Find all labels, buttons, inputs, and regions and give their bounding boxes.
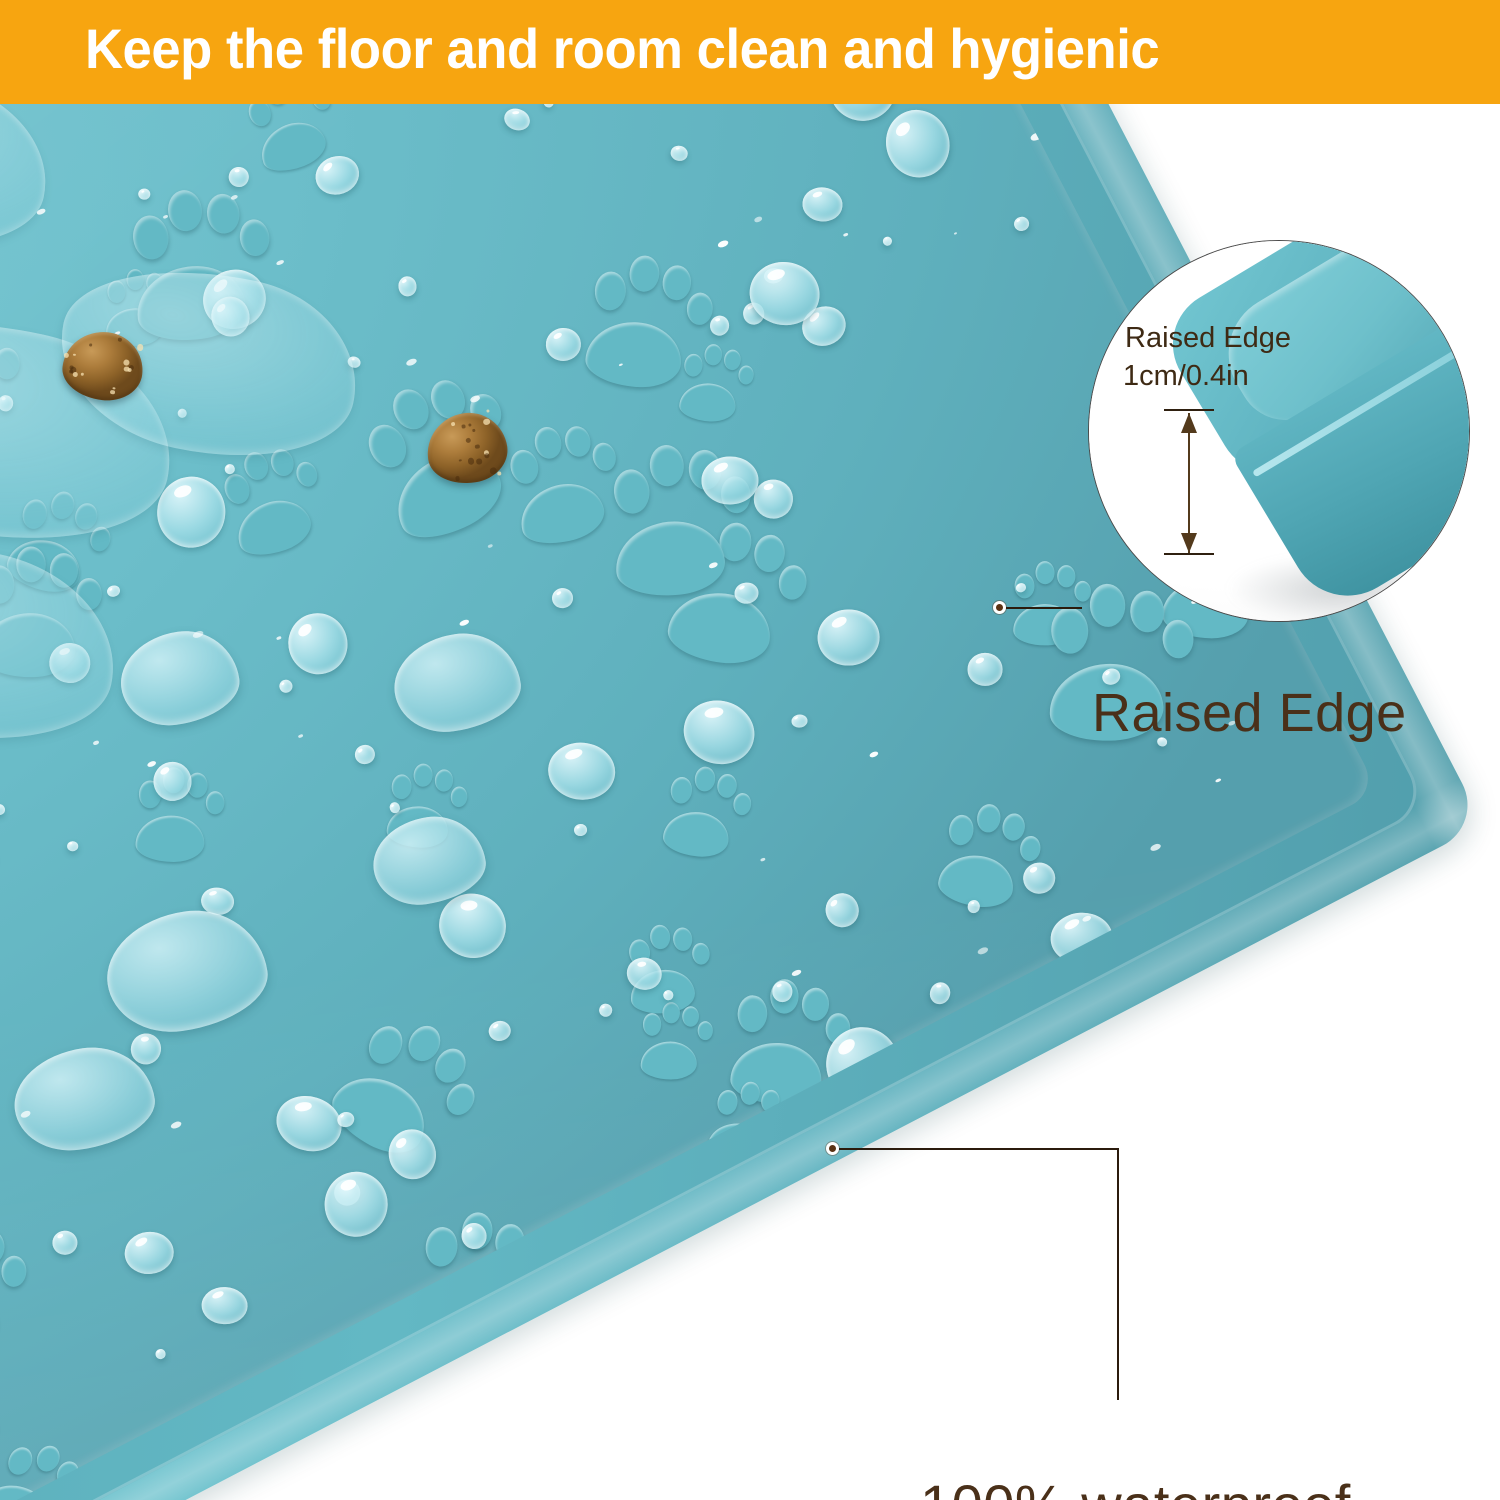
paw-toe [672,927,694,952]
paw-pad [665,588,774,668]
water-droplet [543,104,556,109]
water-sparkle [276,636,281,640]
kibble-grain [110,390,115,395]
paw-toe [682,1006,699,1027]
inset-detail-circle: Raised Edge 1cm/0.4in [1088,240,1470,622]
water-film [0,104,63,272]
kibble-grain [118,337,122,341]
paw-toe [1,1256,27,1288]
paw-pad [135,815,204,862]
water-sparkle [759,857,765,862]
paw-toe [0,1230,5,1264]
callout-dot-raised-edge [993,601,1006,614]
water-droplet [677,693,762,772]
water-droplet [967,899,980,913]
water-sparkle [92,739,99,745]
water-puddle [388,626,526,739]
kibble-grain [472,429,475,432]
paw-pad [679,382,737,423]
water-droplet [545,327,583,362]
paw-toe [662,1002,680,1024]
paw-toe [716,773,737,799]
kibble-grain [123,359,129,365]
paw-toe [662,265,692,302]
product-photo: Raised Edge 100% waterproof Raised Edge … [0,104,1500,1500]
water-droplet [322,1169,391,1240]
water-droplet [821,889,863,932]
water-droplet [817,609,880,667]
water-droplet [967,652,1003,685]
paw-toe [669,776,692,804]
paw-toe [441,1078,480,1119]
water-droplet [277,678,294,695]
water-droplet [702,456,759,504]
kibble-grain [461,424,465,428]
kibble-grain [497,471,501,475]
product-feature-image: Keep the floor and room clean and hygien… [0,0,1500,1500]
water-puddle [99,901,274,1040]
paw-toe [629,255,661,293]
water-droplet [67,842,78,852]
paw-toe [704,344,722,366]
paw-toe [206,791,225,814]
water-sparkle [1149,843,1162,853]
paw-toe [684,354,703,378]
kibble-grain [73,353,76,356]
paw-toe [612,467,652,515]
paw-toe [801,987,829,1021]
water-droplet [882,236,892,246]
callout-label-waterproof: 100% waterproof [920,1472,1351,1500]
water-droplet [501,105,533,134]
dimension-cap-top [1164,409,1214,411]
water-sparkle [1215,778,1222,784]
paw-toe [451,786,468,807]
kibble-grain [484,453,490,459]
dimension-cap-bottom [1164,553,1214,555]
water-sparkle [717,239,729,249]
water-droplet [487,1019,512,1043]
dimension-line [1188,413,1190,553]
water-sparkle [147,760,158,768]
water-droplet [227,165,252,190]
paw-toe [561,423,593,459]
water-sparkle [977,946,989,956]
water-puddle [115,624,245,732]
water-droplet [353,743,377,767]
kibble-grain [475,444,480,449]
paw-toe [594,271,627,312]
water-droplet [138,189,150,201]
water-droplet [106,584,122,599]
paw-toe [245,104,275,130]
kibble-grain [483,418,490,425]
paw-toe [777,564,808,601]
inset-title: Raised Edge [1125,319,1291,357]
water-droplet [0,803,6,816]
paw-toe [648,443,686,488]
paw-toe [1050,606,1089,654]
paw-toe [716,1088,739,1116]
water-droplet [927,979,953,1006]
paw-pad [513,475,609,552]
water-droplet [827,104,898,123]
paw-toe [1019,834,1042,862]
paw-toe [392,774,413,800]
kibble-grain [73,372,78,377]
water-droplet [154,1348,166,1360]
paw-pad [661,809,730,859]
paw-toe [506,447,541,487]
kibble-grain [466,437,472,443]
water-droplet [669,144,689,162]
paw-toe [975,802,1002,833]
water-droplet [311,150,365,200]
paw-pad [584,319,683,389]
water-droplet [545,739,618,803]
water-droplet [708,314,731,338]
callout-label-raised-edge: Raised Edge [1092,682,1407,744]
water-droplet [791,713,808,728]
kibble-grain [459,459,462,462]
paw-toe [737,995,768,1033]
paw-toe [947,813,975,846]
callout-leader-vertical-waterproof [1117,1148,1119,1400]
paw-toe [691,942,711,966]
dimension-arrow-up [1181,413,1197,433]
banner-headline: Keep the floor and room clean and hygien… [85,16,1159,81]
kibble-grain [127,367,132,372]
paw-toe [732,793,752,817]
paw-toe [649,924,672,950]
paw-toe [423,1225,459,1268]
water-droplet [574,823,588,836]
water-droplet [397,275,418,297]
water-sparkle [276,260,285,267]
kibble-grain [489,467,497,475]
paw-toe [697,1021,713,1040]
water-sparkle [487,544,493,548]
paw-toe [1035,561,1055,585]
water-sparkle [170,1121,182,1130]
paw-pad [612,516,728,601]
kibble-grain [476,459,482,465]
paw-pad [640,1041,697,1080]
water-droplet [1013,215,1030,232]
water-droplet [52,1230,78,1255]
kibble-grain [89,343,92,346]
kibble-grain [468,423,472,427]
kibble-grain [455,476,460,481]
paw-toe [724,350,742,371]
callout-leader-horizontal-waterproof [839,1148,1119,1150]
paw-toe [643,1013,662,1036]
paw-toe [752,533,786,573]
water-droplet [1022,861,1056,895]
paw-toe [1001,812,1027,842]
water-sparkle [298,733,304,738]
paw-toe [238,217,272,257]
paw-toe [531,424,565,462]
paw-toe [413,763,433,787]
header-banner: Keep the floor and room clean and hygien… [0,0,1500,104]
paw-toe [293,459,321,490]
water-sparkle [869,750,880,758]
paw-toe [0,1413,1,1444]
water-sparkle [843,232,849,237]
water-sparkle [163,215,169,219]
water-droplet [551,587,574,610]
water-droplet [123,1230,175,1276]
paw-toe [694,766,716,792]
kibble-grain [467,458,474,465]
paw-toe [738,366,754,386]
paw-toe [131,213,172,261]
paw-toe [1057,565,1076,588]
dimension-arrow-down [1181,533,1197,553]
water-sparkle [791,969,802,977]
paw-toe [166,188,205,233]
water-sparkle [754,215,763,222]
water-droplet [877,104,958,185]
paw-toe [589,440,618,473]
water-droplet [281,607,354,682]
callout-leader-raised-edge [1006,607,1082,609]
kibble-grain [64,353,69,358]
water-sparkle [405,357,417,367]
water-droplet [801,185,845,222]
kibble-grain [112,387,115,390]
paw-toe [435,769,454,792]
paw-toe [4,1443,37,1479]
paw-toe [309,104,334,113]
paw-toe [363,1020,409,1070]
water-sparkle [459,618,470,626]
callout-dot-waterproof [826,1142,839,1155]
kibble-grain [80,372,84,376]
inset-measurement: 1cm/0.4in [1123,357,1249,395]
water-sparkle [954,232,958,235]
kibble-grain [451,422,456,427]
water-droplet [598,1003,612,1017]
water-droplet [224,463,236,475]
water-droplet [201,1287,248,1326]
